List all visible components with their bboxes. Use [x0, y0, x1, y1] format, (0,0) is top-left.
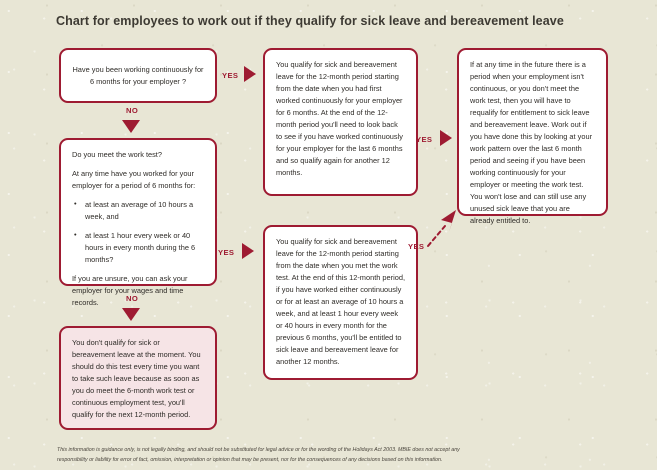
outcome-not-qualified-box: You don't qualify for sick or bereavemen… [59, 326, 217, 430]
arrow-right-icon [244, 66, 256, 82]
connector-label-yes: YES [408, 242, 424, 251]
connector-label-no: NO [126, 294, 138, 303]
connector-label-yes: YES [222, 71, 238, 80]
arrow-right-icon [440, 130, 452, 146]
outcome-qualified-continuous-text: You qualify for sick and bereavement lea… [276, 59, 405, 179]
work-test-heading: Do you meet the work test? [72, 149, 204, 161]
connector-yes-future-requalification-dashed: YES [408, 198, 468, 260]
connector-no-work-test: NO [122, 106, 154, 138]
connector-yes-continuous: YES [222, 66, 262, 84]
work-test-bullet-list: at least an average of 10 hours a week, … [72, 199, 204, 266]
connector-label-no: NO [126, 106, 138, 115]
connector-label-yes: YES [218, 248, 234, 257]
outcome-not-qualified-text: You don't qualify for sick or bereavemen… [72, 337, 204, 421]
connector-no-not-qualified: NO [122, 294, 154, 326]
question-continuous-employment-text: Have you been working continuously for 6… [72, 64, 204, 88]
work-test-bullet: at least 1 hour every week or 40 hours i… [83, 230, 204, 266]
connector-label-yes: YES [416, 135, 432, 144]
work-test-bullet: at least an average of 10 hours a week, … [83, 199, 204, 223]
page-title: Chart for employees to work out if they … [56, 14, 616, 28]
outcome-future-requalification-text: If at any time in the future there is a … [470, 59, 595, 227]
question-continuous-employment-box: Have you been working continuously for 6… [59, 48, 217, 103]
footer-disclaimer: This information is guidance only, is no… [57, 446, 605, 466]
outcome-qualified-work-test-text: You qualify for sick and bereavement lea… [276, 236, 405, 368]
connector-yes-work-test: YES [218, 243, 262, 261]
arrow-right-icon [242, 243, 254, 259]
arrow-down-icon [122, 120, 140, 133]
arrow-down-icon [122, 308, 140, 321]
outcome-qualified-work-test-box: You qualify for sick and bereavement lea… [263, 225, 418, 380]
work-test-intro: At any time have you worked for your emp… [72, 168, 204, 192]
connector-yes-future-requalification: YES [416, 130, 460, 148]
question-work-test-box: Do you meet the work test? At any time h… [59, 138, 217, 286]
outcome-qualified-continuous-box: You qualify for sick and bereavement lea… [263, 48, 418, 196]
footer-disclaimer-line-1: This information is guidance only, is no… [57, 446, 605, 456]
footer-divider [57, 441, 605, 442]
outcome-future-requalification-box: If at any time in the future there is a … [457, 48, 608, 216]
footer-disclaimer-line-2: responsibility or liability for error of… [57, 456, 605, 466]
